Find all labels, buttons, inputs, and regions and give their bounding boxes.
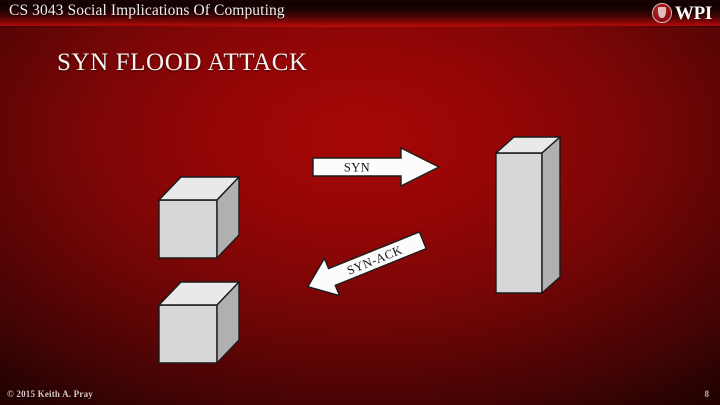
wpi-logo: WPI [652, 1, 712, 25]
slide-header-bar: CS 3043 Social Implications Of Computing… [0, 0, 720, 27]
syn-ack-arrow: SYN-ACK [303, 226, 439, 300]
footer-copyright: © 2015 Keith A. Pray [7, 389, 93, 399]
server-box [494, 135, 564, 297]
client-cube-1 [157, 174, 243, 260]
presentation-slide: CS 3043 Social Implications Of Computing… [0, 0, 720, 405]
wpi-logo-text: WPI [675, 4, 712, 23]
syn-arrow-label: SYN [344, 161, 370, 175]
slide-title: SYN FLOOD ATTACK [57, 49, 308, 77]
course-title: CS 3043 Social Implications Of Computing [9, 2, 285, 20]
syn-arrow: SYN [311, 146, 443, 190]
footer-page-number: 8 [705, 389, 710, 399]
client-cube-2 [157, 279, 243, 365]
wpi-seal-icon [652, 3, 672, 23]
